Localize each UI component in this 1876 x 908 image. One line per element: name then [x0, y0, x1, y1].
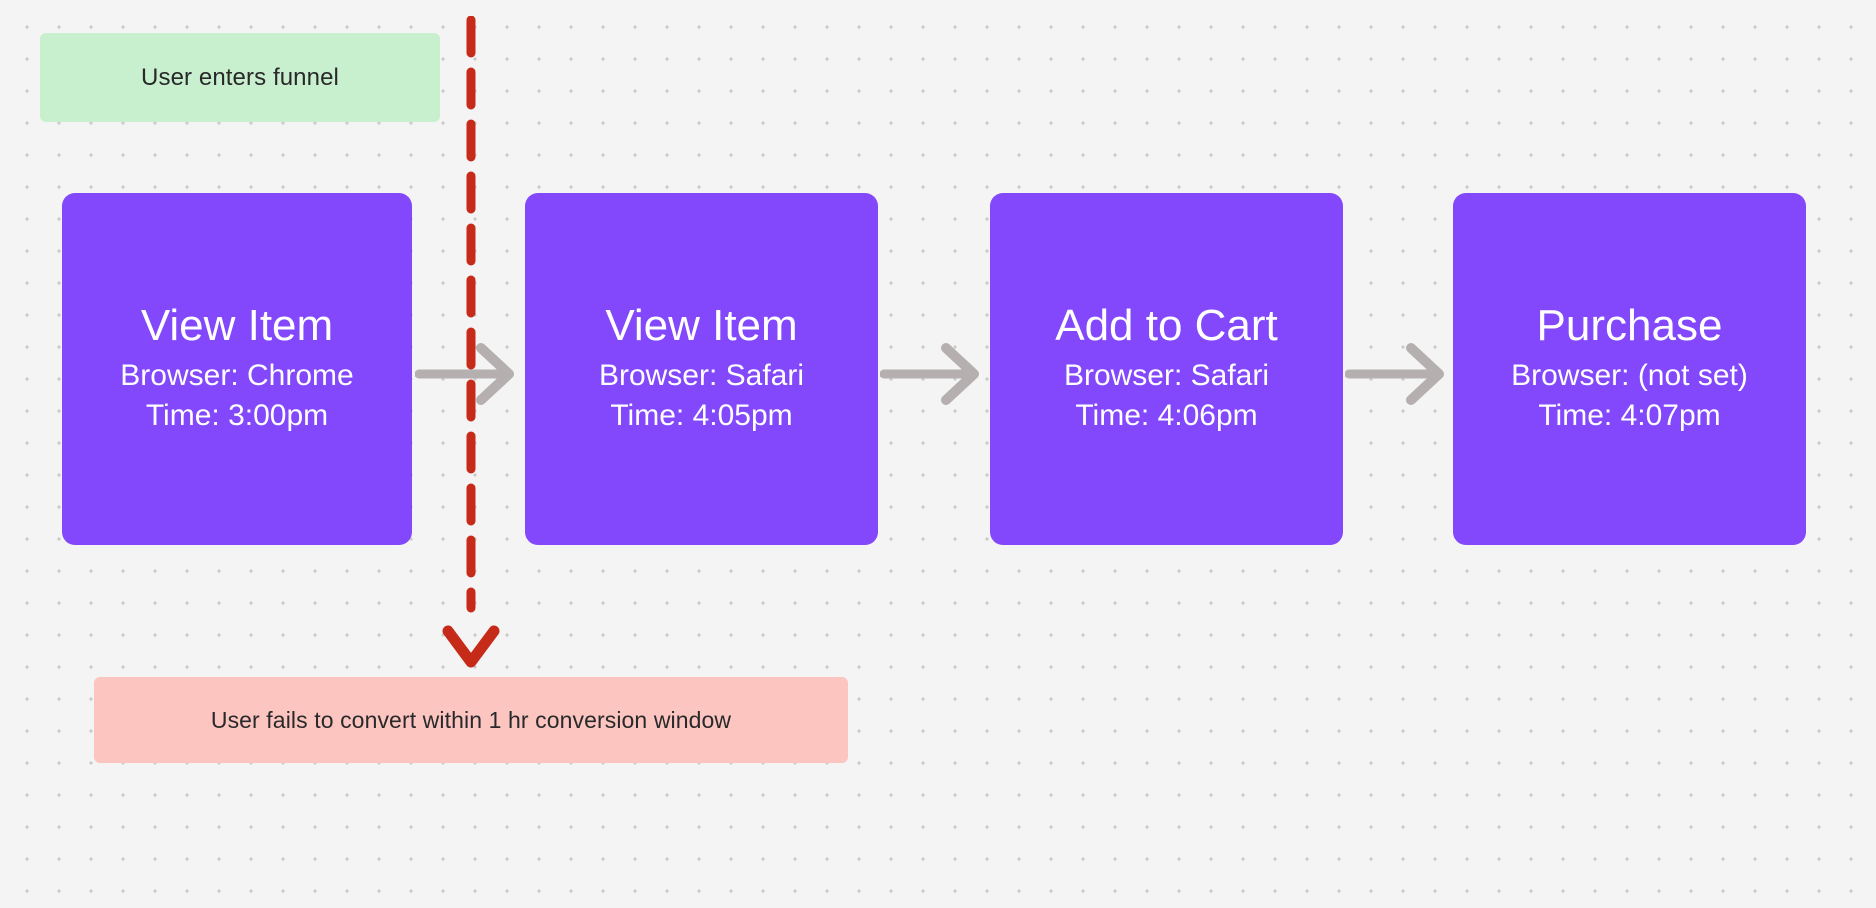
dropoff-annotation-box: User fails to convert within 1 hr conver… [94, 677, 848, 763]
funnel-step-time: Time: 4:05pm [610, 396, 792, 436]
funnel-step-time: Time: 4:07pm [1538, 396, 1720, 436]
funnel-step-browser: Browser: Safari [599, 356, 804, 396]
dropoff-annotation-label: User fails to convert within 1 hr conver… [211, 707, 731, 734]
funnel-step-browser: Browser: (not set) [1511, 356, 1748, 396]
diagram-canvas: User enters funnel View Item Browser: Ch… [0, 0, 1876, 908]
funnel-step-title: Add to Cart [1055, 302, 1278, 350]
funnel-step-browser: Browser: Chrome [120, 356, 353, 396]
entry-annotation-label: User enters funnel [141, 64, 339, 92]
funnel-step-card[interactable]: Purchase Browser: (not set) Time: 4:07pm [1453, 193, 1806, 545]
funnel-step-title: View Item [605, 302, 797, 350]
funnel-step-card[interactable]: Add to Cart Browser: Safari Time: 4:06pm [990, 193, 1343, 545]
funnel-step-browser: Browser: Safari [1064, 356, 1269, 396]
funnel-step-title: Purchase [1537, 302, 1723, 350]
dropoff-arrowhead-icon [448, 631, 494, 662]
funnel-step-card[interactable]: View Item Browser: Chrome Time: 3:00pm [62, 193, 412, 545]
funnel-step-time: Time: 4:06pm [1075, 396, 1257, 436]
funnel-step-time: Time: 3:00pm [146, 396, 328, 436]
step-connector-arrow-icon [880, 336, 988, 412]
step-connector-arrow-icon [415, 336, 523, 412]
step-connector-arrow-icon [1345, 336, 1453, 412]
entry-annotation-box: User enters funnel [40, 33, 440, 122]
funnel-step-card[interactable]: View Item Browser: Safari Time: 4:05pm [525, 193, 878, 545]
funnel-step-title: View Item [141, 302, 333, 350]
